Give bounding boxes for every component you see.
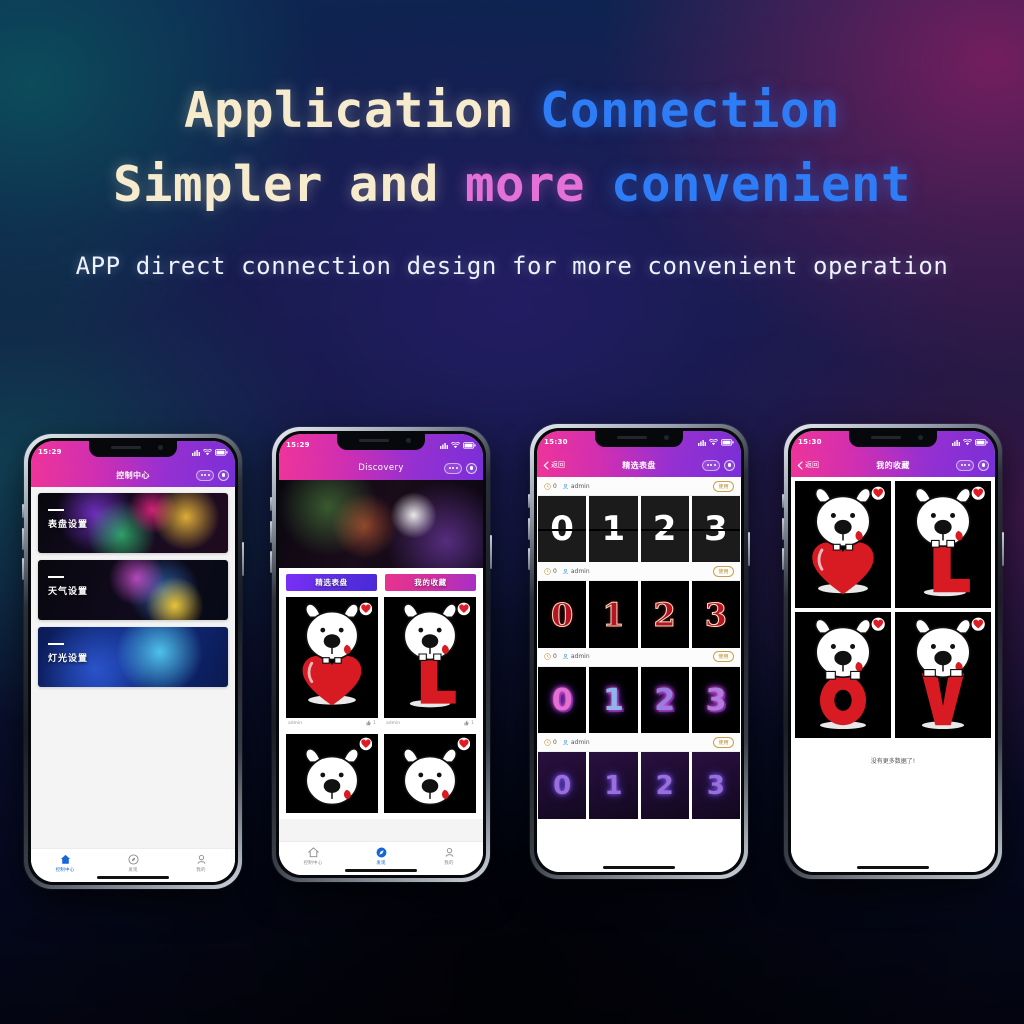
use-button[interactable]: 使用 (713, 566, 734, 577)
dial-preview-dog-L (384, 597, 476, 718)
digit-glyph: 1 (602, 596, 624, 634)
battery-icon (215, 449, 228, 456)
download-count: 0 (553, 653, 557, 660)
download-counter: 0 (544, 653, 557, 660)
phone-screen: 15:29 Discovery (279, 434, 483, 875)
segment-featured-dials[interactable]: 精选表盘 (286, 574, 377, 591)
dial-digit-row-flip[interactable]: 0 1 2 3 (537, 496, 741, 562)
phone-screen: 15:29 控制中心 (31, 441, 235, 882)
phone-mockup-my-favorites: 15:30 返回 我的收藏 (784, 424, 1002, 879)
clock-icon (544, 483, 551, 490)
phone-notch (89, 441, 177, 457)
home-icon (307, 846, 319, 858)
download-count: 0 (553, 568, 557, 575)
like-counter[interactable]: 1 (463, 720, 474, 726)
favorite-cell-dog-heart[interactable] (795, 481, 891, 608)
chevron-left-icon (543, 461, 549, 470)
dial-card-meta: admin 1 (286, 718, 378, 728)
end-of-list-text: 没有更多数据了! (791, 742, 995, 779)
my-favorites-body: 没有更多数据了! (791, 477, 995, 872)
back-button[interactable]: 返回 (543, 460, 565, 470)
battery-icon (975, 439, 988, 446)
battery-icon (721, 439, 734, 446)
favorite-cell-dog-V[interactable] (895, 612, 991, 739)
dial-card[interactable]: admin 1 (286, 597, 378, 728)
phone-screen: 15:30 返回 精选表盘 (537, 431, 741, 872)
tab-label: 我的 (196, 867, 205, 873)
dial-preview-dog-heart (286, 597, 378, 718)
home-indicator (97, 876, 169, 879)
use-button[interactable]: 使用 (713, 481, 734, 492)
digit-cell: 0 (538, 581, 586, 647)
dial-digit-row-neon[interactable]: 0 1 2 3 (537, 667, 741, 733)
download-counter: 0 (544, 483, 557, 490)
more-dots-icon[interactable] (702, 460, 720, 471)
wifi-icon (203, 449, 212, 456)
digit-cell: 0 (538, 496, 586, 562)
author-label: admin (571, 568, 590, 575)
favorite-heart-icon[interactable] (359, 602, 373, 616)
digit-cell: 3 (692, 496, 740, 562)
author-block: admin (562, 568, 590, 575)
favorite-heart-icon[interactable] (359, 737, 373, 751)
headline-word: Simpler (113, 148, 323, 222)
thumbs-up-icon (365, 720, 371, 726)
wifi-icon (451, 442, 460, 449)
dial-digit-row-neon2[interactable]: 0 1 2 3 (537, 752, 741, 818)
headline-word: Connection (540, 74, 840, 148)
digit-glyph: 3 (707, 771, 725, 801)
clock-icon (544, 568, 551, 575)
digit-glyph: 2 (656, 771, 674, 801)
headline-word: Application (184, 74, 514, 148)
status-time: 15:29 (38, 448, 62, 456)
headline-line-1: ApplicationConnection (0, 74, 1024, 148)
tab-discovery[interactable]: 发现 (347, 846, 415, 866)
home-indicator (857, 866, 929, 869)
headline-line-2: Simplerandmoreconvenient (0, 148, 1024, 222)
phone-frame: 15:29 Discovery (272, 427, 490, 882)
author-label: admin (288, 721, 302, 726)
dial-digit-row-marquee[interactable]: 0 1 2 3 (537, 581, 741, 647)
dial-row-meta: 0 admin 使用 (537, 648, 741, 667)
chevron-left-icon (797, 461, 803, 470)
favorite-cell-dog-O[interactable] (795, 612, 891, 739)
dial-row-meta: 0 admin 使用 (537, 733, 741, 752)
digit-glyph: 0 (538, 496, 586, 562)
back-label: 返回 (805, 460, 819, 470)
author-block: admin (562, 653, 590, 660)
digit-cell: 2 (641, 581, 689, 647)
segment-control: 精选表盘 我的收藏 (279, 568, 483, 597)
digit-glyph: 2 (641, 496, 689, 562)
card-weather-settings[interactable]: 天气设置 (38, 560, 228, 620)
digit-cell: 0 (538, 667, 586, 733)
target-icon[interactable] (724, 460, 735, 471)
nav-bar: 返回 我的收藏 (791, 453, 995, 477)
signal-icon (192, 449, 200, 456)
home-indicator (345, 869, 417, 872)
headline-word: and (349, 148, 439, 222)
favorite-heart-icon[interactable] (871, 617, 885, 631)
dial-row-meta: 0 admin 使用 (537, 477, 741, 496)
digit-cell: 3 (692, 581, 740, 647)
author-label: admin (571, 483, 590, 490)
card-label: 表盘设置 (48, 517, 88, 530)
nav-bar: 控制中心 (31, 463, 235, 487)
phone-frame: 15:30 返回 我的收藏 (784, 424, 1002, 879)
compass-icon (127, 853, 139, 865)
clock-icon (544, 739, 551, 746)
download-counter: 0 (544, 568, 557, 575)
back-button[interactable]: 返回 (797, 460, 819, 470)
digit-cell: 1 (589, 581, 637, 647)
dial-card-grid: admin 1 (279, 597, 483, 819)
thumbs-up-icon (463, 720, 469, 726)
favorite-heart-icon[interactable] (457, 602, 471, 616)
dial-preview-dog-head (384, 734, 476, 812)
back-label: 返回 (551, 460, 565, 470)
phone-notch (849, 431, 937, 447)
favorite-heart-icon[interactable] (871, 486, 885, 500)
compass-icon (375, 846, 387, 858)
nav-bar: 返回 精选表盘 (537, 453, 741, 477)
tab-profile[interactable]: 我的 (167, 853, 235, 873)
phone-bezel: 15:30 返回 我的收藏 (788, 428, 998, 875)
phone-bezel: 15:29 Discovery (276, 431, 486, 878)
favorites-grid (791, 477, 995, 742)
target-icon[interactable] (978, 460, 989, 471)
digit-glyph: 1 (589, 496, 637, 562)
dial-preview-dog-head (286, 734, 378, 812)
person-icon (562, 739, 569, 746)
signal-icon (440, 442, 448, 449)
settings-card-list: 表盘设置 天气设置 灯光设置 (31, 487, 235, 693)
digit-cell: 3 (692, 667, 740, 733)
wifi-icon (709, 439, 718, 446)
phone-mockup-featured-dials: 15:30 返回 精选表盘 (530, 424, 748, 879)
download-count: 0 (553, 739, 557, 746)
status-time: 15:29 (286, 441, 310, 449)
phone-mockup-control-center: 15:29 控制中心 (24, 434, 242, 889)
dial-card[interactable] (384, 734, 476, 812)
dial-card-meta: admin 1 (384, 718, 476, 728)
favorite-heart-icon[interactable] (457, 737, 471, 751)
digit-glyph: 3 (692, 496, 740, 562)
dial-card[interactable]: admin 1 (384, 597, 476, 728)
tab-label: 控制中心 (56, 867, 75, 873)
digit-glyph: 1 (604, 771, 622, 801)
tab-label: 我的 (444, 860, 453, 866)
tab-discovery[interactable]: 发现 (99, 853, 167, 873)
person-icon (562, 653, 569, 660)
dial-card[interactable] (286, 734, 378, 812)
digit-glyph: 3 (705, 683, 726, 718)
author-label: admin (571, 739, 590, 746)
download-counter: 0 (544, 739, 557, 746)
digit-cell: 1 (589, 496, 637, 562)
card-accent-dash (48, 643, 64, 645)
nav-bar: Discovery (279, 456, 483, 480)
phone-bezel: 15:29 控制中心 (28, 438, 238, 885)
author-block: admin (562, 483, 590, 490)
download-count: 0 (553, 483, 557, 490)
discovery-body: 精选表盘 我的收藏 (279, 480, 483, 841)
digit-glyph: 3 (705, 596, 727, 634)
home-indicator (603, 866, 675, 869)
digit-cell: 2 (641, 496, 689, 562)
phone-screen: 15:30 返回 我的收藏 (791, 431, 995, 872)
digit-cell: 3 (692, 752, 740, 818)
digit-cell: 0 (538, 752, 586, 818)
segment-label: 精选表盘 (315, 577, 347, 588)
digit-cell: 2 (641, 667, 689, 733)
tab-control-center[interactable]: 控制中心 (31, 853, 99, 873)
dial-row-meta: 0 admin 使用 (537, 562, 741, 581)
digit-glyph: 1 (603, 683, 624, 718)
author-label: admin (571, 653, 590, 660)
like-counter[interactable]: 1 (365, 720, 376, 726)
favorite-cell-dog-L[interactable] (895, 481, 991, 608)
tab-profile[interactable]: 我的 (415, 846, 483, 866)
person-icon (443, 846, 455, 858)
target-icon[interactable] (218, 470, 229, 481)
hero-banner (279, 480, 483, 568)
favorite-heart-icon[interactable] (971, 617, 985, 631)
phone-frame: 15:30 返回 精选表盘 (530, 424, 748, 879)
favorite-heart-icon[interactable] (971, 486, 985, 500)
digit-glyph: 2 (653, 596, 675, 634)
digit-cell: 1 (589, 752, 637, 818)
card-label: 灯光设置 (48, 651, 88, 664)
clock-icon (544, 653, 551, 660)
use-button[interactable]: 使用 (713, 737, 734, 748)
battery-icon (463, 442, 476, 449)
digit-glyph: 0 (553, 771, 571, 801)
status-time: 15:30 (798, 438, 822, 446)
card-light-settings[interactable]: 灯光设置 (38, 627, 228, 687)
status-time: 15:30 (544, 438, 568, 446)
digit-cell: 2 (641, 752, 689, 818)
use-button[interactable]: 使用 (713, 651, 734, 662)
signal-icon (698, 439, 706, 446)
like-count: 1 (471, 721, 474, 726)
author-label: admin (386, 721, 400, 726)
phone-mockup-discovery: 15:29 Discovery (272, 427, 490, 882)
person-icon (195, 853, 207, 865)
segment-label: 我的收藏 (414, 577, 446, 588)
control-center-body: 表盘设置 天气设置 灯光设置 (31, 487, 235, 848)
wifi-icon (963, 439, 972, 446)
headline-word: more (465, 148, 585, 222)
tab-label: 发现 (376, 860, 385, 866)
like-count: 1 (373, 721, 376, 726)
phone-notch (337, 434, 425, 450)
card-dial-settings[interactable]: 表盘设置 (38, 493, 228, 553)
tab-control-center[interactable]: 控制中心 (279, 846, 347, 866)
author-block: admin (562, 739, 590, 746)
card-label: 天气设置 (48, 584, 88, 597)
phone-frame: 15:29 控制中心 (24, 434, 242, 889)
more-dots-icon[interactable] (196, 470, 214, 481)
digit-glyph: 2 (654, 683, 675, 718)
digit-glyph: 0 (552, 683, 573, 718)
tab-label: 发现 (128, 867, 137, 873)
featured-dials-body: 0 admin 使用 0 1 2 3 (537, 477, 741, 872)
home-icon (59, 853, 71, 865)
phone-notch (595, 431, 683, 447)
more-dots-icon[interactable] (956, 460, 974, 471)
hero-headline: ApplicationConnection Simplerandmoreconv… (0, 74, 1024, 280)
digit-glyph: 0 (551, 596, 573, 634)
person-icon (562, 568, 569, 575)
card-accent-dash (48, 509, 64, 511)
segment-my-favorites[interactable]: 我的收藏 (385, 574, 476, 591)
card-accent-dash (48, 576, 64, 578)
person-icon (562, 483, 569, 490)
hero-subtitle: APP direct connection design for more co… (0, 252, 1024, 280)
phone-bezel: 15:30 返回 精选表盘 (534, 428, 744, 875)
tab-label: 控制中心 (304, 860, 323, 866)
signal-icon (952, 439, 960, 446)
digit-cell: 1 (589, 667, 637, 733)
headline-word: convenient (611, 148, 911, 222)
more-dots-icon[interactable] (444, 463, 462, 474)
target-icon[interactable] (466, 463, 477, 474)
